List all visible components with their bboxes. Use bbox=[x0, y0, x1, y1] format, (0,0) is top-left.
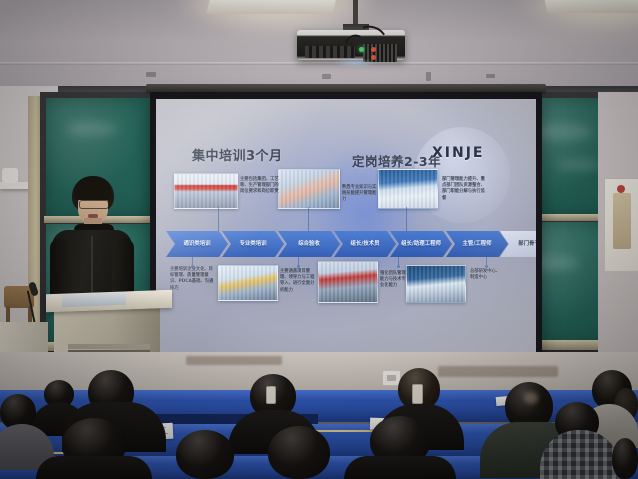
slide-heading-left: 集中培训3个月 bbox=[192, 145, 283, 164]
slide-connector-dot-5 bbox=[297, 265, 300, 268]
audience-head-13 bbox=[612, 438, 638, 479]
slide-photo-2 bbox=[278, 169, 340, 209]
slide-caption-top-3: 部门管理能力提升、重点部门团队资源整合、部门职能分解与执行监督 bbox=[442, 177, 486, 202]
light-fixture-right bbox=[545, 0, 638, 13]
audience-head-11 bbox=[268, 426, 330, 479]
slide-photo-4 bbox=[218, 265, 278, 301]
wall-poster bbox=[604, 178, 638, 272]
photo-texture bbox=[279, 170, 339, 208]
photo-texture bbox=[219, 266, 277, 300]
wall-scuff-2 bbox=[438, 366, 558, 377]
photo-texture bbox=[407, 266, 465, 302]
presenter-fringe bbox=[74, 184, 112, 200]
slide-connector-dot-7 bbox=[485, 265, 488, 268]
slide-connector-3 bbox=[406, 207, 407, 231]
slide-connector-2 bbox=[308, 207, 309, 231]
chevron-label: 组长/技术员 bbox=[343, 241, 388, 248]
projector-light-spill bbox=[333, 58, 377, 68]
chevron-stage-2[interactable]: 专业类培训 bbox=[222, 231, 284, 257]
scalp-highlight bbox=[524, 392, 538, 404]
lectern-shelf bbox=[68, 344, 150, 349]
ceiling-fixture-b bbox=[322, 74, 331, 79]
poster-accent-dot bbox=[617, 185, 625, 193]
hair-clip-icon bbox=[412, 384, 423, 404]
chevron-stage-6[interactable]: 主管/工程师 bbox=[446, 231, 508, 257]
photo-texture bbox=[319, 262, 377, 302]
chevron-stage-3[interactable]: 综合验收 bbox=[278, 231, 340, 257]
photo-texture bbox=[175, 174, 237, 208]
chalk-smudge bbox=[66, 122, 118, 136]
presentation-slide: 集中培训3个月 定岗培养2-3年 XINJE 主要包括集团、工艺等、生产管理部门… bbox=[156, 99, 536, 357]
chevron-label: 主管/工程师 bbox=[455, 241, 500, 248]
slide-caption-bottom-2: 主要涵盖项目管理、领导力与工程导入、进行全面分析能力 bbox=[280, 269, 318, 294]
audience-shoulders-12 bbox=[344, 456, 456, 479]
xinje-logo: XINJE bbox=[432, 145, 485, 161]
slide-photo-3 bbox=[378, 169, 438, 209]
slide-caption-top-2: 熟悉专业知识与实践技能提升管理能力 bbox=[342, 185, 378, 204]
presenter bbox=[48, 176, 134, 304]
career-path-chevrons: 通识类培训 专业类培训 综合验收 组长/技术员 组长/助理工程师 主管/工程师 … bbox=[166, 231, 528, 257]
classroom-scene: 集中培训3个月 定岗培养2-3年 XINJE 主要包括集团、工艺等、生产管理部门… bbox=[0, 0, 638, 479]
ceiling-fixture-a bbox=[146, 72, 156, 77]
chevron-label: 专业类培训 bbox=[232, 241, 275, 248]
lectern-control-panel[interactable] bbox=[62, 293, 126, 307]
shelf-object bbox=[2, 168, 18, 183]
slide-heading-right: 定岗培养2-3年 bbox=[352, 151, 441, 170]
ceiling-fixture-c bbox=[426, 72, 431, 81]
slide-caption-bottom-3: 强化团队管理能力与技术专业化能力 bbox=[380, 271, 406, 290]
chevron-stage-5[interactable]: 组长/助理工程师 bbox=[390, 231, 452, 257]
chevron-stage-4[interactable]: 组长/技术员 bbox=[334, 231, 396, 257]
projection-screen: 集中培训3个月 定岗培养2-3年 XINJE 主要包括集团、工艺等、生产管理部门… bbox=[150, 92, 542, 364]
projector-mount-pole bbox=[353, 0, 358, 26]
slide-connector-dot-6 bbox=[397, 265, 400, 268]
photo-texture bbox=[379, 170, 437, 208]
slide-photo-1 bbox=[174, 173, 238, 209]
slide-caption-bottom-1: 主要培训企业文化、目标管理、质量管理意识、PDCA基础、沟通技巧 bbox=[170, 267, 214, 292]
slide-caption-top-1: 主要包括集团、工艺等、生产管理部门的岗位要求和岗位职责 bbox=[240, 177, 280, 196]
projector bbox=[297, 24, 405, 62]
chevron-label: 部门骨干 bbox=[510, 241, 536, 248]
audience-head-10 bbox=[176, 430, 234, 479]
ceiling-fixture-d bbox=[486, 74, 495, 78]
chevron-label: 组长/助理工程师 bbox=[393, 241, 449, 248]
slide-connector-1 bbox=[218, 207, 219, 231]
slide-caption-bottom-4: 总部研发中心、制造中心 bbox=[470, 269, 504, 281]
chalk-smudge bbox=[556, 160, 604, 170]
poster-figure bbox=[613, 193, 631, 249]
slide-photo-5 bbox=[318, 261, 378, 303]
ceiling-seam bbox=[0, 62, 638, 65]
audience-shoulders-9 bbox=[36, 456, 152, 479]
chevron-label: 综合验收 bbox=[290, 241, 328, 248]
wall-scuff-1 bbox=[186, 356, 282, 365]
light-fixture-left bbox=[206, 0, 335, 14]
slide-photo-6 bbox=[406, 265, 466, 303]
chevron-label: 通识类培训 bbox=[176, 241, 219, 248]
hair-clip-icon bbox=[266, 386, 276, 404]
chevron-stage-1[interactable]: 通识类培训 bbox=[166, 231, 228, 257]
glasses-icon bbox=[79, 200, 109, 209]
